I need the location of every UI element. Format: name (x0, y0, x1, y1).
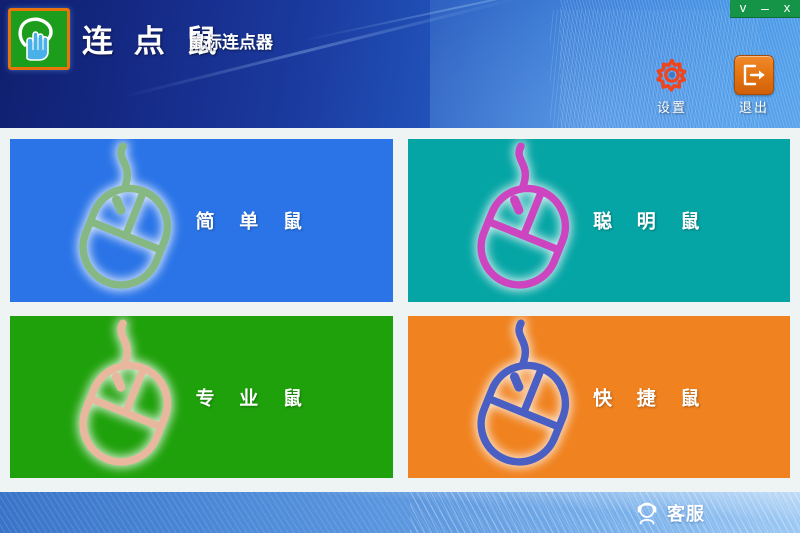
gear-icon-wrap (644, 56, 700, 94)
tile-smart-mouse[interactable]: 聪 明 鼠 (408, 139, 791, 302)
app-logo (8, 8, 70, 70)
exit-label: 退出 (726, 97, 782, 116)
tile-label: 聪 明 鼠 (408, 207, 791, 234)
minimize-button[interactable]: – (754, 1, 776, 16)
tile-label: 快 捷 鼠 (408, 383, 791, 410)
mode-tile-grid: 简 单 鼠 (10, 139, 790, 478)
app-window: v – x 连 点 鼠 鼠标连点器 (0, 0, 800, 533)
headset-person-icon (634, 500, 660, 526)
hand-click-mouse-icon (11, 11, 67, 67)
footer-bar: 客服 (0, 492, 800, 533)
tile-shortcut-mouse[interactable]: 快 捷 鼠 (408, 316, 791, 479)
settings-label: 设置 (644, 97, 700, 116)
tile-professional-mouse[interactable]: 专 业 鼠 (10, 316, 393, 479)
restore-button[interactable]: v (732, 1, 754, 16)
header-actions: 设置 退出 (644, 56, 782, 116)
app-subtitle: 鼠标连点器 (188, 28, 273, 53)
tile-label: 专 业 鼠 (10, 383, 393, 410)
exit-icon-box (734, 55, 774, 95)
header-light-streak (300, 0, 653, 42)
footer-ray-pattern (410, 492, 800, 533)
header-bar: v – x 连 点 鼠 鼠标连点器 (0, 0, 800, 128)
customer-support-label: 客服 (667, 500, 705, 526)
tile-simple-mouse[interactable]: 简 单 鼠 (10, 139, 393, 302)
window-controls: v – x (730, 0, 800, 18)
exit-icon (741, 62, 767, 88)
close-button[interactable]: x (776, 1, 798, 16)
customer-support-button[interactable]: 客服 (634, 500, 705, 526)
exit-icon-wrap (726, 56, 782, 94)
tile-label: 简 单 鼠 (10, 207, 393, 234)
settings-button[interactable]: 设置 (644, 56, 700, 116)
exit-button[interactable]: 退出 (726, 56, 782, 116)
gear-icon (654, 57, 690, 93)
